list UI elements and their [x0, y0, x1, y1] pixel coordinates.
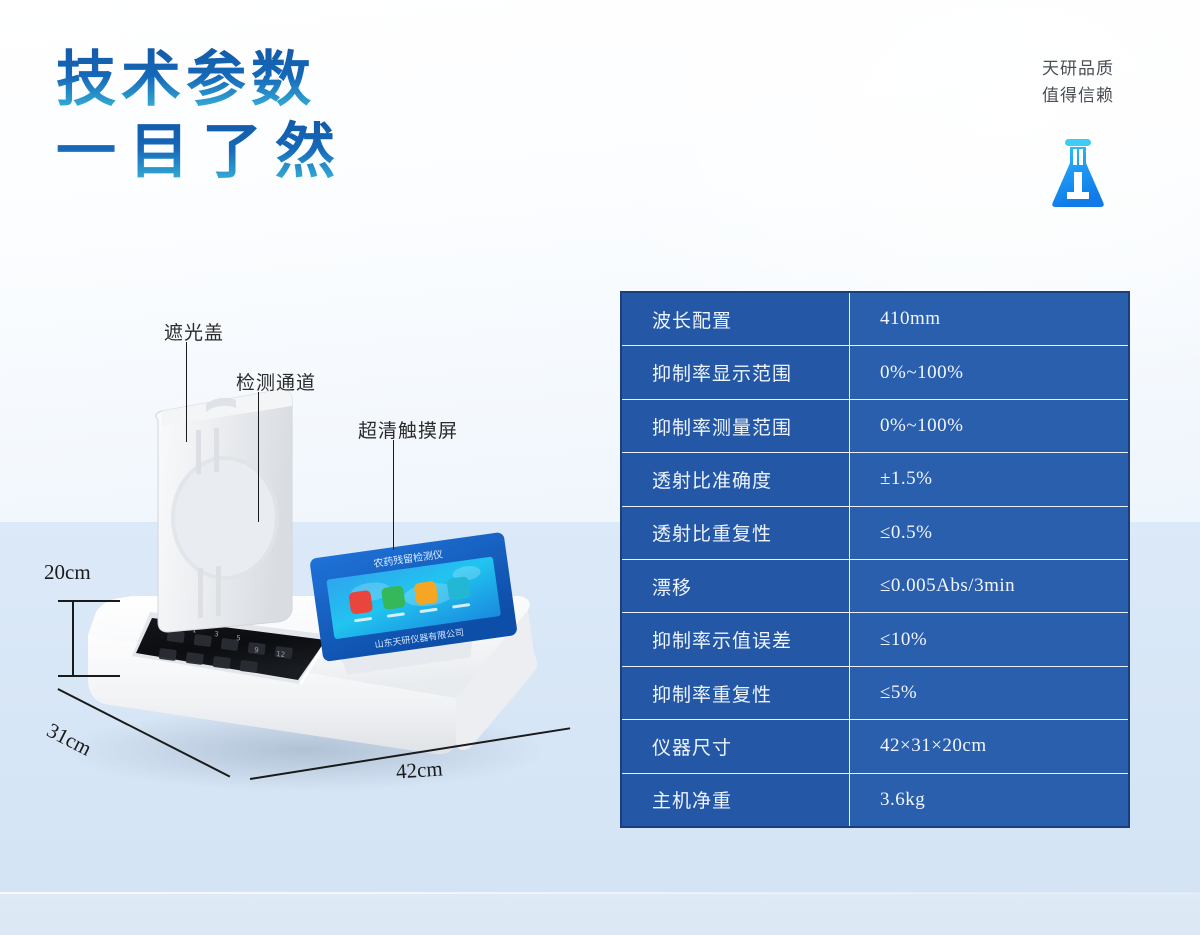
- spec-key: 抑制率重复性: [622, 667, 850, 719]
- spec-row: 透射比重复性≤0.5%: [622, 507, 1128, 560]
- spec-value: 0%~100%: [850, 400, 1128, 452]
- spec-value: 0%~100%: [850, 346, 1128, 398]
- spec-key: 透射比准确度: [622, 453, 850, 505]
- spec-row: 抑制率测量范围0%~100%: [622, 400, 1128, 453]
- dimension-tick-bottom: [58, 675, 120, 677]
- brand-slogan-line-1: 天研品质: [998, 56, 1158, 83]
- spec-key: 透射比重复性: [622, 507, 850, 559]
- spec-value: 3.6kg: [850, 774, 1128, 826]
- dimension-label-height: 20cm: [44, 560, 91, 585]
- spec-value: ≤0.005Abs/3min: [850, 560, 1128, 612]
- page-title-line-1: 技术参数: [56, 44, 348, 116]
- dimension-line-height: [72, 602, 74, 675]
- lead-line-screen: [393, 440, 394, 550]
- page-title: 技术参数 一目了然: [56, 44, 348, 188]
- spec-row: 主机净重3.6kg: [622, 774, 1128, 826]
- lead-line-cover: [186, 342, 187, 442]
- spec-value: ±1.5%: [850, 453, 1128, 505]
- brand-block: 天研品质 值得信赖: [998, 56, 1158, 210]
- spec-row: 漂移≤0.005Abs/3min: [622, 560, 1128, 613]
- callout-detection-channel: 检测通道: [236, 368, 316, 395]
- spec-key: 抑制率示值误差: [622, 613, 850, 665]
- spec-table: 波长配置410mm抑制率显示范围0%~100%抑制率测量范围0%~100%透射比…: [620, 291, 1130, 828]
- spec-key: 抑制率显示范围: [622, 346, 850, 398]
- svg-text:12: 12: [276, 650, 286, 659]
- spec-key: 仪器尺寸: [622, 720, 850, 772]
- spec-row: 仪器尺寸42×31×20cm: [622, 720, 1128, 773]
- spec-value: 410mm: [850, 293, 1128, 345]
- flask-icon: [998, 136, 1158, 210]
- spec-value: 42×31×20cm: [850, 720, 1128, 772]
- spec-row: 抑制率重复性≤5%: [622, 667, 1128, 720]
- callout-touchscreen: 超清触摸屏: [358, 416, 458, 443]
- product-illustration: 1 3 5 9 12 农药残留检测仪: [0, 280, 620, 900]
- spec-row: 抑制率显示范围0%~100%: [622, 346, 1128, 399]
- spec-value: ≤10%: [850, 613, 1128, 665]
- page-title-line-2: 一目了然: [56, 116, 348, 188]
- dimension-label-width: 42cm: [395, 756, 443, 784]
- lead-line-channel: [258, 392, 259, 522]
- brand-slogan-line-2: 值得信赖: [998, 83, 1158, 110]
- spec-row: 透射比准确度±1.5%: [622, 453, 1128, 506]
- spec-row: 抑制率示值误差≤10%: [622, 613, 1128, 666]
- spec-row: 波长配置410mm: [622, 293, 1128, 346]
- spec-value: ≤5%: [850, 667, 1128, 719]
- callout-light-shield-cover: 遮光盖: [164, 318, 224, 345]
- spec-value: ≤0.5%: [850, 507, 1128, 559]
- spec-key: 主机净重: [622, 774, 850, 826]
- spec-key: 波长配置: [622, 293, 850, 345]
- spec-key: 抑制率测量范围: [622, 400, 850, 452]
- dimension-tick-top: [58, 600, 120, 602]
- spec-key: 漂移: [622, 560, 850, 612]
